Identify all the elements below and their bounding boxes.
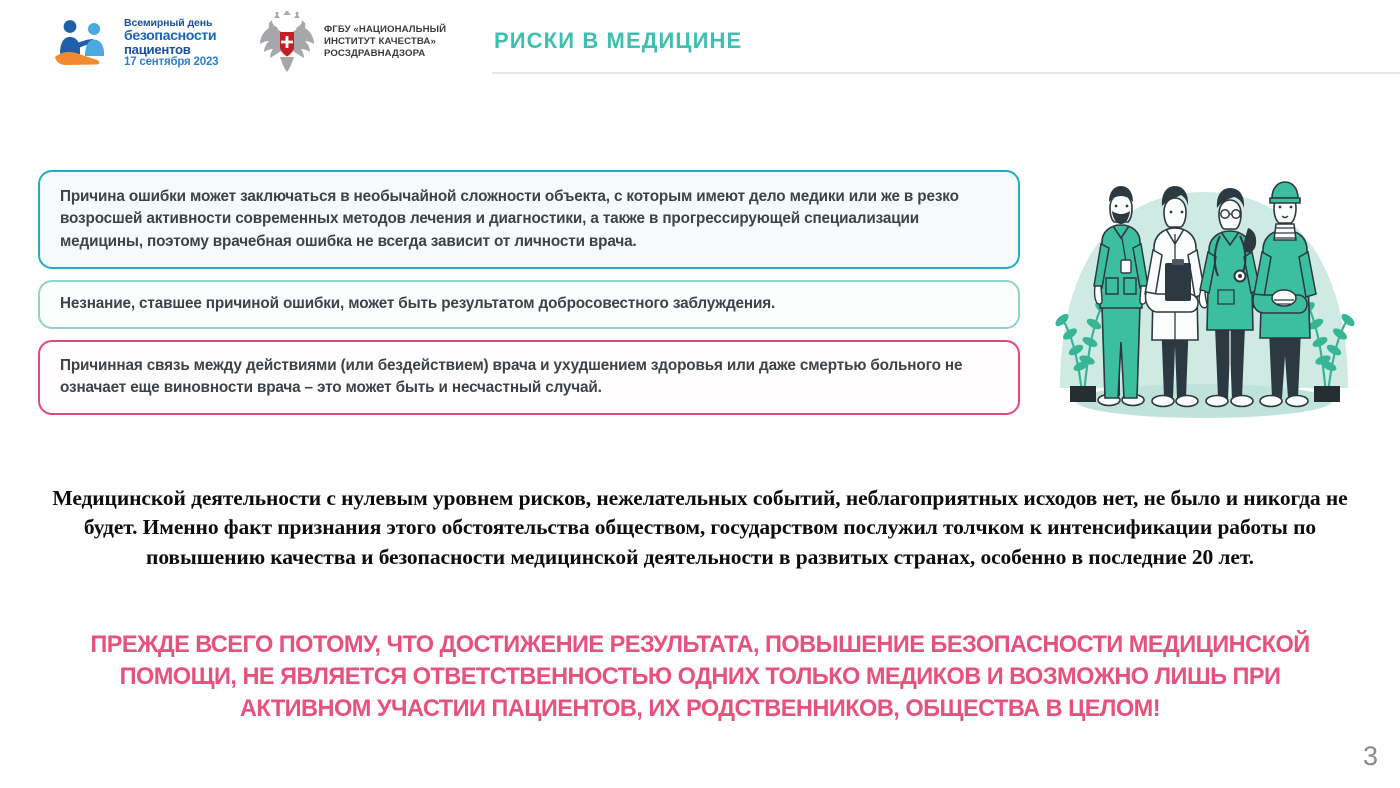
world-patient-safety-day-wordmark: Всемирный день безопасности пациентов 17… xyxy=(124,17,218,69)
wsd-line-2: безопасности xyxy=(124,29,218,43)
callout-cause-of-error: Причина ошибки может заключаться в необы… xyxy=(38,170,1020,269)
medical-team-illustration xyxy=(1032,158,1376,430)
callout-list: Причина ошибки может заключаться в необы… xyxy=(38,170,1020,415)
wsd-date: 17 сентября 2023 xyxy=(124,56,218,69)
patient-safety-hands-icon xyxy=(52,16,118,70)
main-paragraph: Медицинской деятельности с нулевым уровн… xyxy=(52,484,1348,572)
callout-ignorance: Незнание, ставшее причиной ошибки, может… xyxy=(38,280,1020,328)
rzn-line-2: ИНСТИТУТ КАЧЕСТВА» xyxy=(324,36,446,48)
wsd-line-3: пациентов xyxy=(124,43,218,56)
slide-header: Всемирный день безопасности пациентов 17… xyxy=(0,0,1400,86)
rzn-line-1: ФГБУ «НАЦИОНАЛЬНЫЙ xyxy=(324,24,446,36)
page-number: 3 xyxy=(1363,741,1378,772)
header-divider xyxy=(492,72,1400,74)
double-headed-eagle-icon xyxy=(258,11,316,73)
rzn-line-3: РОСЗДРАВНАДЗОРА xyxy=(324,48,446,60)
roszdravnadzor-logo: ФГБУ «НАЦИОНАЛЬНЫЙ ИНСТИТУТ КАЧЕСТВА» РО… xyxy=(258,10,458,74)
page-title: РИСКИ В МЕДИЦИНЕ xyxy=(494,28,742,54)
conclusion-statement: ПРЕЖДЕ ВСЕГО ПОТОМУ, ЧТО ДОСТИЖЕНИЕ РЕЗУ… xyxy=(63,629,1337,725)
roszdravnadzor-wordmark: ФГБУ «НАЦИОНАЛЬНЫЙ ИНСТИТУТ КАЧЕСТВА» РО… xyxy=(324,24,446,61)
wsd-line-1: Всемирный день xyxy=(124,18,218,29)
world-patient-safety-day-logo: Всемирный день безопасности пациентов 17… xyxy=(52,14,232,72)
callout-causal-link: Причинная связь между действиями (или бе… xyxy=(38,340,1020,415)
